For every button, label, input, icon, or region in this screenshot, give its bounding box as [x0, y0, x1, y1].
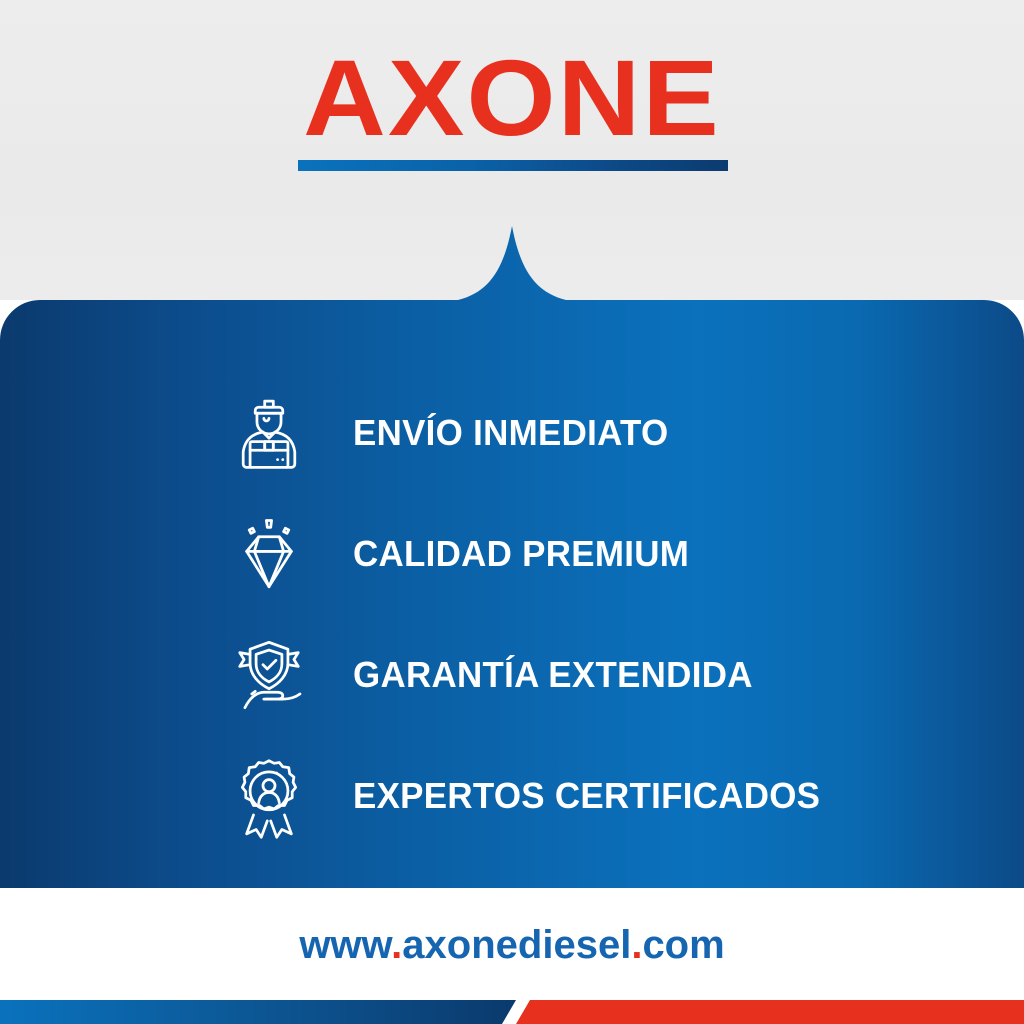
footer-bar-right-red — [516, 1000, 1024, 1024]
award-badge-person-icon — [226, 753, 312, 839]
shield-check-hand-icon — [226, 632, 312, 718]
delivery-person-package-icon — [226, 390, 312, 476]
url-dot-separator: . — [631, 923, 642, 967]
brand-underline-rule — [298, 160, 728, 171]
feature-list: ENVÍO INMEDIATO CALIDAD PREMIUM — [0, 372, 1024, 856]
brand-logo: AXONE — [0, 46, 1024, 150]
feature-item: ENVÍO INMEDIATO — [0, 372, 1024, 493]
feature-label: ENVÍO INMEDIATO — [353, 414, 668, 452]
url-domain: axonediesel — [402, 923, 631, 967]
feature-item: GARANTÍA EXTENDIDA — [0, 614, 1024, 735]
feature-label: CALIDAD PREMIUM — [353, 535, 689, 573]
diamond-gem-icon — [226, 511, 312, 597]
url-dot-separator: . — [391, 923, 402, 967]
feature-label: EXPERTOS CERTIFICADOS — [353, 777, 820, 815]
header-band: AXONE — [0, 0, 1024, 300]
url-prefix: www — [299, 923, 391, 967]
footer-accent-bar — [0, 984, 1024, 1024]
feature-item: CALIDAD PREMIUM — [0, 493, 1024, 614]
feature-item: EXPERTOS CERTIFICADOS — [0, 735, 1024, 856]
brand-wordmark: AXONE — [303, 46, 721, 150]
feature-label: GARANTÍA EXTENDIDA — [353, 656, 753, 694]
promo-poster: AXONE — [0, 0, 1024, 1024]
footer-bar-left-blue — [0, 1000, 516, 1024]
website-url[interactable]: www.axonediesel.com — [299, 923, 724, 967]
website-line[interactable]: www.axonediesel.com — [0, 922, 1024, 968]
url-tld: com — [642, 923, 724, 967]
